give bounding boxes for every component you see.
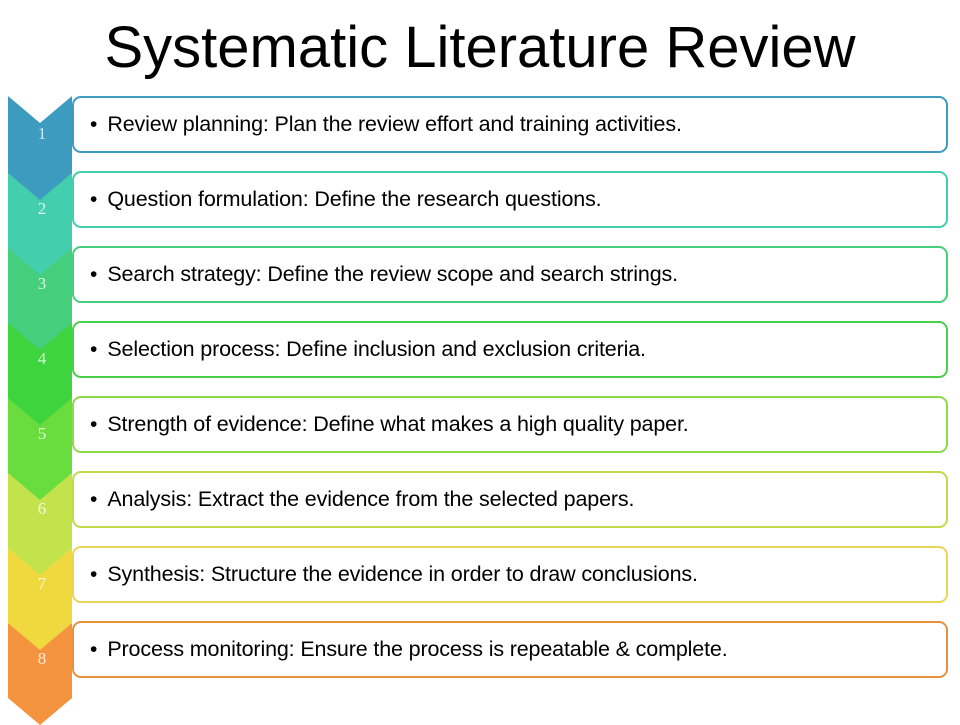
- step-description: Strength of evidence: Define what makes …: [107, 412, 946, 437]
- bullet-icon: •: [90, 264, 97, 285]
- process-step[interactable]: 8•Process monitoring: Ensure the process…: [0, 621, 960, 696]
- bullet-icon: •: [90, 489, 97, 510]
- process-step[interactable]: 3•Search strategy: Define the review sco…: [0, 246, 960, 321]
- step-text-box[interactable]: •Review planning: Plan the review effort…: [72, 96, 948, 153]
- bullet-icon: •: [90, 114, 97, 135]
- step-description: Selection process: Define inclusion and …: [107, 337, 946, 362]
- step-text-box[interactable]: •Analysis: Extract the evidence from the…: [72, 471, 948, 528]
- step-number: 1: [8, 96, 72, 171]
- process-step[interactable]: 5•Strength of evidence: Define what make…: [0, 396, 960, 471]
- process-step[interactable]: 2•Question formulation: Define the resea…: [0, 171, 960, 246]
- bullet-icon: •: [90, 414, 97, 435]
- step-description: Question formulation: Define the researc…: [107, 187, 946, 212]
- process-step[interactable]: 7•Synthesis: Structure the evidence in o…: [0, 546, 960, 621]
- page-title: Systematic Literature Review: [0, 6, 960, 90]
- process-step[interactable]: 4•Selection process: Define inclusion an…: [0, 321, 960, 396]
- step-text-box[interactable]: •Question formulation: Define the resear…: [72, 171, 948, 228]
- step-text-box[interactable]: •Selection process: Define inclusion and…: [72, 321, 948, 378]
- process-step[interactable]: 1•Review planning: Plan the review effor…: [0, 96, 960, 171]
- process-flow-list: 1•Review planning: Plan the review effor…: [0, 96, 960, 712]
- bullet-icon: •: [90, 639, 97, 660]
- step-description: Search strategy: Define the review scope…: [107, 262, 946, 287]
- step-description: Review planning: Plan the review effort …: [107, 112, 946, 137]
- slide-canvas: Systematic Literature Review 1•Review pl…: [0, 0, 960, 720]
- step-text-box[interactable]: •Search strategy: Define the review scop…: [72, 246, 948, 303]
- bullet-icon: •: [90, 564, 97, 585]
- step-text-box[interactable]: •Synthesis: Structure the evidence in or…: [72, 546, 948, 603]
- step-text-box[interactable]: •Process monitoring: Ensure the process …: [72, 621, 948, 678]
- step-description: Analysis: Extract the evidence from the …: [107, 487, 946, 512]
- step-text-box[interactable]: •Strength of evidence: Define what makes…: [72, 396, 948, 453]
- step-description: Synthesis: Structure the evidence in ord…: [107, 562, 946, 587]
- step-description: Process monitoring: Ensure the process i…: [107, 637, 946, 662]
- process-step[interactable]: 6•Analysis: Extract the evidence from th…: [0, 471, 960, 546]
- bullet-icon: •: [90, 339, 97, 360]
- bullet-icon: •: [90, 189, 97, 210]
